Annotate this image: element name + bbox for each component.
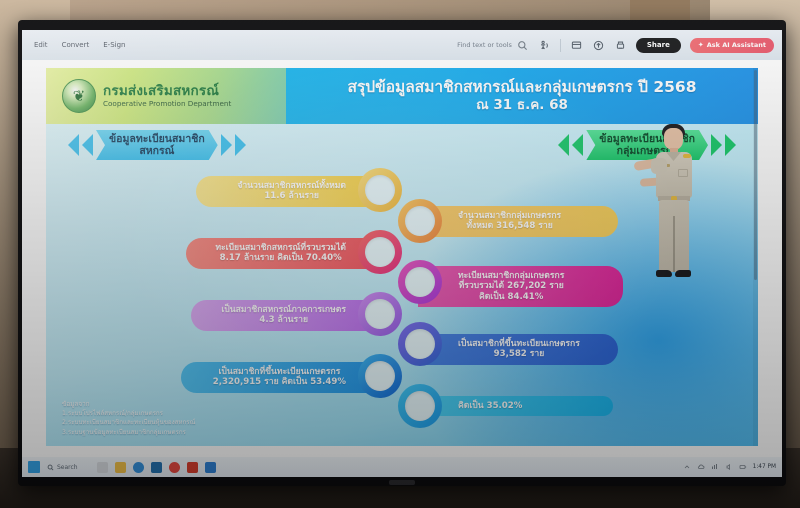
accessibility-icon[interactable] [538, 39, 551, 52]
chevron-right-green-icon-2 [725, 134, 736, 156]
share-button[interactable]: Share [636, 38, 681, 53]
stat-bar-right-1-text: จำนวนสมาชิกกลุ่มเกษตรกร ทั้งหมด 316,548 … [458, 211, 561, 232]
screen: Edit Convert E-Sign Find text or tools [22, 30, 782, 477]
org-name-th: กรมส่งเสริมสหกรณ์ [103, 84, 231, 98]
stat-bar-left-2: ทะเบียนสมาชิกสหกรณ์ที่รวบรวมได้ 8.17 ล้า… [186, 238, 386, 269]
node-right-3 [398, 322, 442, 366]
stat-bar-left-4: เป็นสมาชิกที่ขึ้นทะเบียนเกษตรกร 2,320,91… [181, 362, 386, 393]
node-right-2 [398, 260, 442, 304]
section-left-line2: สหกรณ์ [109, 145, 205, 157]
stat-left-1-line1: จำนวนสมาชิกสหกรณ์ทั้งหมด [237, 181, 346, 191]
menu-edit[interactable]: Edit [34, 41, 48, 49]
stat-bar-right-3: เป็นสมาชิกที่ขึ้นทะเบียนเกษตรกร 93,582 ร… [418, 334, 618, 365]
stat-bar-right-2-text: ทะเบียนสมาชิกกลุ่มเกษตรกร ที่รวบรวมได้ 2… [458, 271, 564, 302]
taskbar-app-chrome-icon[interactable] [169, 462, 180, 473]
stat-bar-right-2: ทะเบียนสมาชิกกลุ่มเกษตรกร ที่รวบรวมได้ 2… [418, 266, 623, 307]
taskbar-app-teams-icon[interactable] [151, 462, 162, 473]
stat-bar-left-3: เป็นสมาชิกสหกรณ์ภาคการเกษตร 4.3 ล้านราย [191, 300, 386, 331]
stat-right-1-line2: ทั้งหมด 316,548 ราย [458, 221, 561, 231]
cloud-icon[interactable] [697, 463, 705, 471]
section-header-cooperative: ข้อมูลทะเบียนสมาชิก สหกรณ์ [68, 130, 246, 160]
node-right-2-hole [405, 267, 435, 297]
stat-bar-left-1-text: จำนวนสมาชิกสหกรณ์ทั้งหมด 11.6 ล้านราย [237, 181, 346, 202]
pdf-scrollbar[interactable] [753, 68, 758, 446]
source-note: ข้อมูลจาก 1.ระบบโปรไฟล์สหกรณ์/กลุ่มเกษตร… [62, 400, 195, 438]
officer-leg-split [673, 216, 675, 272]
stat-bar-left-2-text: ทะเบียนสมาชิกสหกรณ์ที่รวบรวมได้ 8.17 ล้า… [215, 243, 346, 264]
source-heading: ข้อมูลจาก [62, 400, 195, 410]
menu-esign[interactable]: E-Sign [103, 41, 125, 49]
upload-icon[interactable] [592, 39, 605, 52]
org-name: กรมส่งเสริมสหกรณ์ Cooperative Promotion … [103, 84, 231, 107]
node-left-1-hole [365, 175, 395, 205]
monitor-brand-logo [389, 480, 415, 485]
node-right-4-hole [405, 391, 435, 421]
taskbar-app-explorer-icon[interactable] [97, 462, 108, 473]
find-box[interactable]: Find text or tools [457, 39, 529, 52]
stat-right-2-line1: ทะเบียนสมาชิกกลุ่มเกษตรกร [458, 271, 564, 281]
title-band: สรุปข้อมูลสมาชิกสหกรณ์และกลุ่มเกษตรกร ปี… [286, 68, 758, 124]
stat-left-1-line2: 11.6 ล้านราย [237, 191, 346, 201]
officer-shoe-left [656, 270, 672, 277]
chevron-right-icon [221, 134, 232, 156]
pdf-scrollbar-thumb[interactable] [754, 70, 757, 280]
node-left-4 [358, 354, 402, 398]
taskbar-app-store-icon[interactable] [205, 462, 216, 473]
department-emblem-icon: ❦ [62, 79, 96, 113]
sparkle-icon: ✦ [698, 41, 704, 49]
taskbar-system-tray: 1:47 PM [683, 463, 776, 471]
org-name-en: Cooperative Promotion Department [103, 100, 231, 108]
menu-convert[interactable]: Convert [62, 41, 90, 49]
node-right-1-hole [405, 206, 435, 236]
chevron-left-icon-2 [82, 134, 93, 156]
find-label: Find text or tools [457, 41, 512, 49]
officer-illustration [631, 120, 717, 300]
stat-left-4-line2: 2,320,915 ราย คิดเป็น 53.49% [213, 377, 346, 387]
ask-ai-assistant-button[interactable]: ✦ Ask AI Assistant [690, 38, 774, 53]
battery-icon[interactable] [739, 463, 747, 471]
wifi-icon[interactable] [711, 463, 719, 471]
officer-shoe-right [675, 270, 691, 277]
stat-bar-right-3-text: เป็นสมาชิกที่ขึ้นทะเบียนเกษตรกร 93,582 ร… [458, 339, 580, 360]
chevron-left-icon [68, 134, 79, 156]
toolbar-actions: Find text or tools [457, 38, 774, 53]
node-right-3-hole [405, 329, 435, 359]
stat-left-4-line1: เป็นสมาชิกที่ขึ้นทะเบียนเกษตรกร [213, 367, 346, 377]
stat-bar-left-4-text: เป็นสมาชิกที่ขึ้นทะเบียนเกษตรกร 2,320,91… [213, 367, 346, 388]
stat-bar-right-1: จำนวนสมาชิกกลุ่มเกษตรกร ทั้งหมด 316,548 … [418, 206, 618, 237]
taskbar-app-acrobat-icon[interactable] [187, 462, 198, 473]
page-title-line1: สรุปข้อมูลสมาชิกสหกรณ์และกลุ่มเกษตรกร ปี… [348, 79, 697, 97]
infographic-header: ❦ กรมส่งเสริมสหกรณ์ Cooperative Promotio… [46, 68, 758, 124]
chevron-right-icon-2 [235, 134, 246, 156]
ask-ai-label: Ask AI Assistant [707, 41, 766, 49]
officer-pocket [678, 169, 688, 177]
chevron-left-green-icon [558, 134, 569, 156]
source-item-1: 1.ระบบโปรไฟล์สหกรณ์/กลุ่มเกษตรกร [62, 409, 195, 418]
chevron-left-green-icon-2 [572, 134, 583, 156]
section-left-line1: ข้อมูลทะเบียนสมาชิก [109, 133, 205, 145]
stat-bar-left-3-text: เป็นสมาชิกสหกรณ์ภาคการเกษตร 4.3 ล้านราย [221, 305, 346, 326]
taskbar-clock[interactable]: 1:47 PM [753, 464, 776, 470]
volume-icon[interactable] [725, 463, 733, 471]
taskbar-search-label: Search [57, 464, 78, 471]
menu-bar: Edit Convert E-Sign [30, 41, 125, 49]
officer-head [664, 128, 683, 150]
source-item-3: 3.ระบบฐานข้อมูลทะเบียนสมาชิกกลุ่มเกษตรกร [62, 428, 195, 437]
monitor: Edit Convert E-Sign Find text or tools [18, 20, 786, 486]
stat-bar-right-4-text: คิดเป็น 35.02% [458, 401, 522, 411]
taskbar-app-edge-icon[interactable] [133, 462, 144, 473]
taskbar-apps [97, 462, 216, 473]
node-left-2 [358, 230, 402, 274]
stat-right-3-line2: 93,582 ราย [458, 349, 580, 359]
stat-right-4-line1: คิดเป็น 35.02% [458, 401, 522, 411]
toolbar-divider [560, 39, 561, 52]
print-icon[interactable] [614, 39, 627, 52]
windows-taskbar: Search 1:47 PM [22, 457, 782, 477]
stat-left-2-line2: 8.17 ล้านราย คิดเป็น 70.40% [215, 253, 346, 263]
search-icon[interactable] [516, 39, 529, 52]
stat-right-2-line2: ที่รวบรวมได้ 267,202 ราย [458, 281, 564, 291]
chevron-up-icon[interactable] [683, 463, 691, 471]
node-right-1 [398, 199, 442, 243]
node-right-4 [398, 384, 442, 428]
node-left-4-hole [365, 361, 395, 391]
taskbar-app-folder-icon[interactable] [115, 462, 126, 473]
node-left-1 [358, 168, 402, 212]
pdf-page[interactable]: ❦ กรมส่งเสริมสหกรณ์ Cooperative Promotio… [46, 68, 758, 446]
stat-bar-right-4: คิดเป็น 35.02% [418, 396, 613, 416]
node-left-3 [358, 292, 402, 336]
comment-icon[interactable] [570, 39, 583, 52]
taskbar-search[interactable]: Search [47, 464, 78, 471]
page-title-line2: ณ 31 ธ.ค. 68 [476, 97, 568, 113]
logo-band: ❦ กรมส่งเสริมสหกรณ์ Cooperative Promotio… [46, 68, 286, 124]
stat-left-3-line2: 4.3 ล้านราย [221, 315, 346, 325]
stat-right-1-line1: จำนวนสมาชิกกลุ่มเกษตรกร [458, 211, 561, 221]
start-button-icon[interactable] [28, 461, 40, 473]
acrobat-toolbar: Edit Convert E-Sign Find text or tools [22, 30, 782, 60]
taskbar-search-icon [47, 464, 54, 471]
section-pill-cooperative: ข้อมูลทะเบียนสมาชิก สหกรณ์ [96, 130, 218, 160]
stat-left-2-line1: ทะเบียนสมาชิกสหกรณ์ที่รวบรวมได้ [215, 243, 346, 253]
stat-right-2-line3: คิดเป็น 84.41% [458, 292, 564, 302]
stat-right-3-line1: เป็นสมาชิกที่ขึ้นทะเบียนเกษตรกร [458, 339, 580, 349]
source-item-2: 2.ระบบทะเบียนสมาชิกและทะเบียนหุ้นของสหกร… [62, 418, 195, 427]
officer-sleeve [651, 158, 667, 174]
node-left-2-hole [365, 237, 395, 267]
room-photo: Edit Convert E-Sign Find text or tools [0, 0, 800, 508]
node-left-3-hole [365, 299, 395, 329]
officer-epaulet [683, 154, 691, 158]
stat-left-3-line1: เป็นสมาชิกสหกรณ์ภาคการเกษตร [221, 305, 346, 315]
